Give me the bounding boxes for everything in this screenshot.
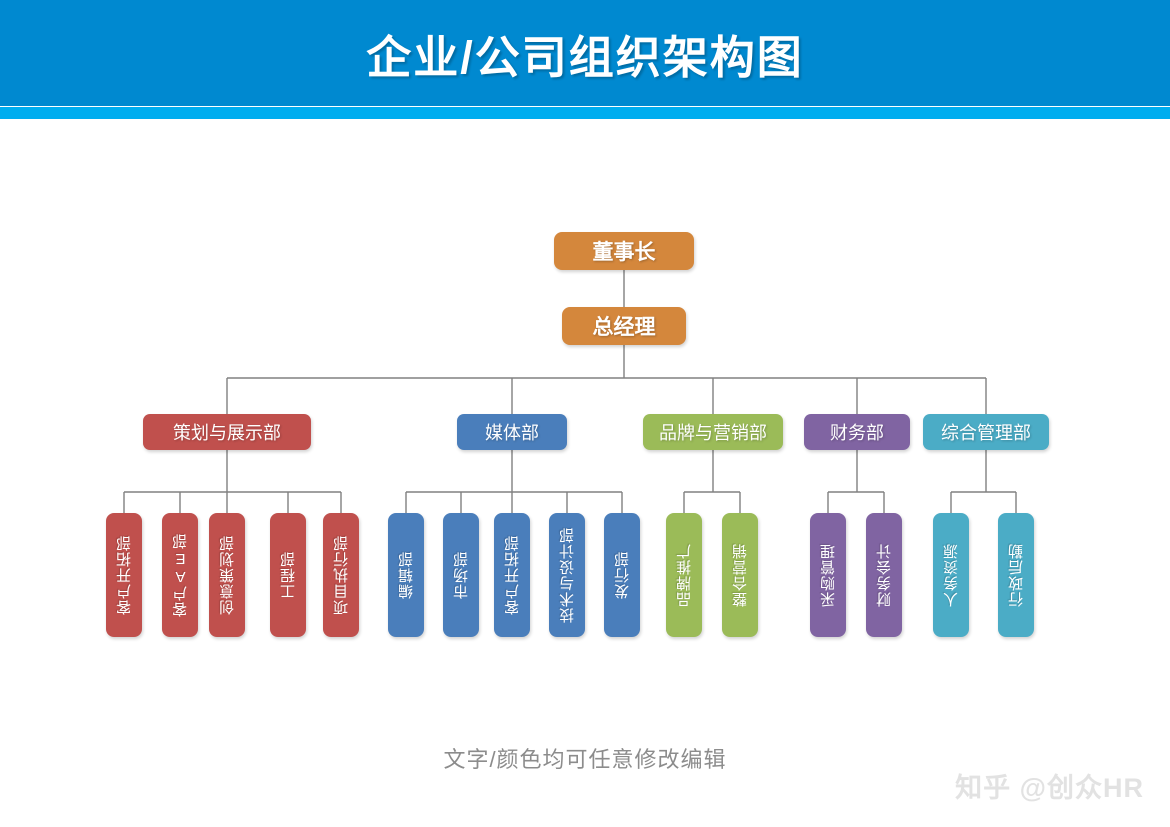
node-leaf-media-4-label: 技术与设计部 <box>560 527 575 623</box>
node-leaf-finance-1[interactable]: 采购管理 <box>810 513 846 637</box>
page-title: 企业/公司组织架构图 <box>366 21 804 86</box>
node-leaf-planning-3-label: 创意策划部 <box>220 535 235 615</box>
node-leaf-finance-1-label: 采购管理 <box>821 543 836 607</box>
node-dept-finance[interactable]: 财务部 <box>804 414 910 450</box>
node-leaf-media-1[interactable]: 编辑部 <box>388 513 424 637</box>
node-chairman[interactable]: 董事长 <box>554 232 694 270</box>
node-leaf-brand-1[interactable]: 品牌推广 <box>666 513 702 637</box>
node-leaf-brand-2[interactable]: 整合营销 <box>722 513 758 637</box>
node-leaf-admin-2-label: 行政后勤 <box>1009 543 1024 607</box>
header-banner: 企业/公司组织架构图 <box>0 0 1170 106</box>
node-dept-finance-label: 财务部 <box>830 419 884 445</box>
node-leaf-media-1-label: 编辑部 <box>399 551 414 599</box>
node-leaf-planning-4-label: 工程部 <box>281 551 296 599</box>
node-leaf-planning-4[interactable]: 工程部 <box>270 513 306 637</box>
node-dept-brand[interactable]: 品牌与营销部 <box>643 414 783 450</box>
node-leaf-finance-2-label: 财务会计 <box>877 543 892 607</box>
node-leaf-planning-1-label: 客户开拓部 <box>117 535 132 615</box>
watermark: 知乎 @创众HR <box>955 766 1144 805</box>
node-leaf-admin-1[interactable]: 人务资源 <box>933 513 969 637</box>
node-leaf-brand-2-label: 整合营销 <box>733 543 748 607</box>
node-leaf-media-2[interactable]: 市场部 <box>443 513 479 637</box>
node-leaf-media-5[interactable]: 发行部 <box>604 513 640 637</box>
node-leaf-finance-2[interactable]: 财务会计 <box>866 513 902 637</box>
node-leaf-media-4[interactable]: 技术与设计部 <box>549 513 585 637</box>
node-dept-admin[interactable]: 综合管理部 <box>923 414 1049 450</box>
node-leaf-planning-2-label: 客户AE部 <box>173 533 188 617</box>
node-leaf-admin-2[interactable]: 行政后勤 <box>998 513 1034 637</box>
node-leaf-media-2-label: 市场部 <box>454 551 469 599</box>
node-dept-planning[interactable]: 策划与展示部 <box>143 414 311 450</box>
node-dept-admin-label: 综合管理部 <box>941 419 1031 445</box>
node-leaf-planning-1[interactable]: 客户开拓部 <box>106 513 142 637</box>
node-leaf-planning-3[interactable]: 创意策划部 <box>209 513 245 637</box>
node-leaf-planning-5-label: 项目执行部 <box>334 535 349 615</box>
node-gm-label: 总经理 <box>593 311 656 341</box>
node-leaf-planning-5[interactable]: 项目执行部 <box>323 513 359 637</box>
node-leaf-media-3[interactable]: 客户开拓部 <box>494 513 530 637</box>
node-dept-media-label: 媒体部 <box>485 419 539 445</box>
header-accent-stripe <box>0 107 1170 119</box>
node-gm[interactable]: 总经理 <box>562 307 686 345</box>
node-leaf-media-5-label: 发行部 <box>615 551 630 599</box>
node-chairman-label: 董事长 <box>593 236 656 266</box>
node-leaf-media-3-label: 客户开拓部 <box>505 535 520 615</box>
node-leaf-planning-2[interactable]: 客户AE部 <box>162 513 198 637</box>
node-leaf-brand-1-label: 品牌推广 <box>677 543 692 607</box>
node-leaf-admin-1-label: 人务资源 <box>944 543 959 607</box>
node-dept-brand-label: 品牌与营销部 <box>659 419 767 445</box>
org-chart-canvas: 董事长总经理策划与展示部客户开拓部客户AE部创意策划部工程部项目执行部媒体部编辑… <box>0 119 1170 739</box>
node-dept-media[interactable]: 媒体部 <box>457 414 567 450</box>
node-dept-planning-label: 策划与展示部 <box>173 419 281 445</box>
